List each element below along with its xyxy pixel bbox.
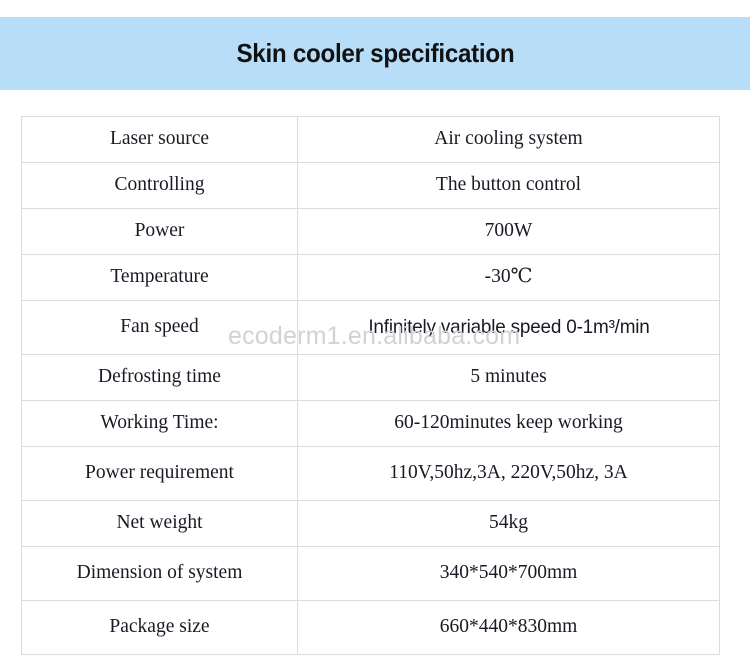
- page-title: Skin cooler specification: [236, 38, 514, 69]
- spec-value-cell: 110V,50hz,3A, 220V,50hz, 3A: [298, 447, 720, 501]
- table-row: Dimension of system 340*540*700mm: [22, 547, 720, 601]
- specification-page: Skin cooler specification Laser source A…: [0, 0, 750, 672]
- spec-value-cell: 340*540*700mm: [298, 547, 720, 601]
- spec-label-cell: Package size: [22, 601, 298, 655]
- spec-value-cell: -30℃: [298, 255, 720, 301]
- spec-value-cell: 5 minutes: [298, 355, 720, 401]
- spec-label-cell: Laser source: [22, 117, 298, 163]
- spec-value-cell: 60-120minutes keep working: [298, 401, 720, 447]
- spec-label-cell: Fan speed: [22, 301, 298, 355]
- title-banner: Skin cooler specification: [0, 17, 750, 90]
- spec-label-cell: Power requirement: [22, 447, 298, 501]
- table-row: Power 700W: [22, 209, 720, 255]
- spec-label-cell: Power: [22, 209, 298, 255]
- spec-table-container: Laser source Air cooling system Controll…: [21, 116, 719, 655]
- table-row: Working Time: 60-120minutes keep working: [22, 401, 720, 447]
- table-row: Power requirement 110V,50hz,3A, 220V,50h…: [22, 447, 720, 501]
- spec-value-cell: 54kg: [298, 501, 720, 547]
- spec-label-cell: Dimension of system: [22, 547, 298, 601]
- spec-label-cell: Defrosting time: [22, 355, 298, 401]
- spec-value-cell: The button control: [298, 163, 720, 209]
- table-row: Temperature -30℃: [22, 255, 720, 301]
- spec-label-cell: Working Time:: [22, 401, 298, 447]
- table-row: Laser source Air cooling system: [22, 117, 720, 163]
- table-row: Controlling The button control: [22, 163, 720, 209]
- table-row: Package size 660*440*830mm: [22, 601, 720, 655]
- spec-value-cell: 700W: [298, 209, 720, 255]
- table-row: Fan speed Infinitely variable speed 0-1m…: [22, 301, 720, 355]
- specification-table: Laser source Air cooling system Controll…: [21, 116, 720, 655]
- spec-value-cell: Infinitely variable speed 0-1m³/min: [304, 301, 713, 355]
- spec-label-cell: Net weight: [22, 501, 298, 547]
- spec-value-cell: Air cooling system: [298, 117, 720, 163]
- table-row: Net weight 54kg: [22, 501, 720, 547]
- spec-label-cell: Temperature: [22, 255, 298, 301]
- table-row: Defrosting time 5 minutes: [22, 355, 720, 401]
- spec-label-cell: Controlling: [22, 163, 298, 209]
- spec-value-cell: 660*440*830mm: [298, 601, 720, 655]
